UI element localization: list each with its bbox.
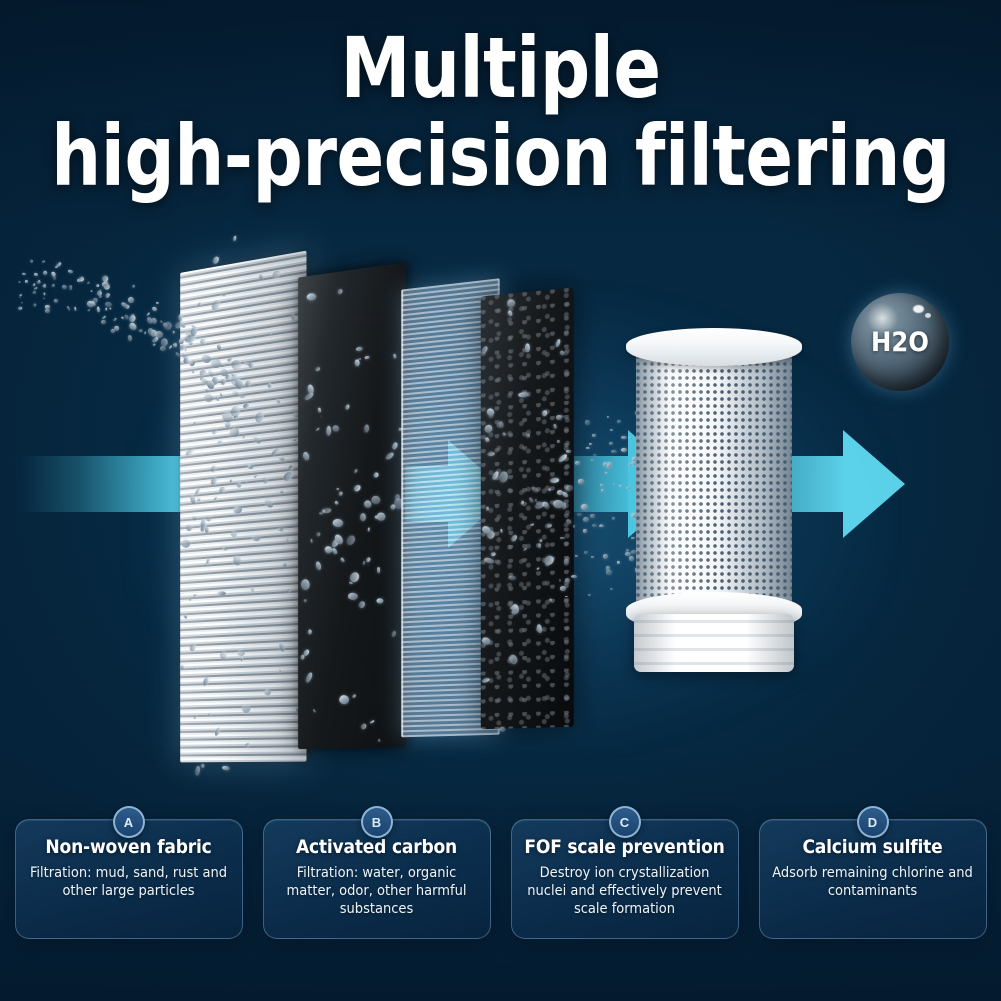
water-droplet — [392, 442, 399, 450]
water-droplet — [219, 392, 222, 397]
feature-card-list: A Non-woven fabric Filtration: mud, sand… — [0, 819, 1001, 945]
water-droplet — [29, 259, 33, 263]
water-droplet — [25, 280, 28, 283]
card-description-d: Adsorb remaining chlorine and contaminan… — [760, 864, 986, 900]
water-droplet — [105, 308, 107, 311]
cartridge-top-cap — [626, 328, 802, 366]
water-droplet — [244, 480, 248, 484]
water-droplet — [185, 448, 194, 457]
water-droplet — [221, 766, 229, 771]
water-droplet — [282, 563, 287, 567]
water-droplet — [90, 290, 93, 292]
water-droplet — [502, 432, 507, 437]
water-droplet — [538, 538, 542, 542]
water-droplet — [37, 281, 41, 284]
water-droplet — [286, 588, 291, 593]
water-droplet — [185, 523, 193, 532]
water-droplet — [209, 476, 218, 486]
card-badge-a: A — [113, 806, 145, 838]
water-droplet — [336, 487, 339, 489]
water-droplet — [91, 301, 96, 307]
water-droplet — [22, 273, 26, 276]
water-droplet — [527, 434, 531, 439]
water-droplet — [263, 498, 274, 509]
water-droplet — [370, 495, 381, 506]
water-droplet — [96, 290, 103, 297]
water-droplet — [353, 484, 362, 493]
arrow-tail — [20, 456, 188, 512]
water-droplet — [559, 350, 565, 356]
water-droplet — [376, 567, 380, 573]
water-droplet — [21, 302, 23, 304]
water-droplet — [68, 269, 73, 273]
card-description-a: Filtration: mud, sand, rust and other la… — [16, 864, 242, 900]
water-droplet — [42, 270, 48, 276]
water-droplet — [18, 281, 21, 283]
water-droplet — [268, 332, 272, 336]
water-droplet — [481, 678, 490, 684]
water-droplet — [302, 451, 310, 462]
water-droplet — [229, 427, 239, 436]
water-droplet — [42, 260, 45, 262]
water-droplet — [484, 423, 495, 434]
water-droplet — [546, 523, 551, 527]
water-droplet — [62, 284, 68, 289]
water-droplet — [499, 471, 509, 482]
water-droplet — [101, 275, 109, 283]
water-droplet — [290, 313, 295, 321]
water-droplet — [87, 308, 91, 312]
water-droplet — [543, 410, 548, 416]
water-droplet — [77, 279, 81, 282]
water-droplet — [485, 407, 495, 418]
water-droplet — [38, 280, 40, 282]
water-droplet — [332, 548, 338, 555]
water-droplet — [69, 285, 72, 290]
water-droplet — [188, 597, 192, 600]
water-droplet — [491, 552, 496, 557]
water-droplet — [333, 500, 338, 505]
feature-card-b[interactable]: B Activated carbon Filtration: water, or… — [263, 819, 491, 939]
water-droplet — [198, 302, 202, 307]
water-droplet — [534, 498, 537, 502]
water-droplet — [520, 500, 525, 505]
water-droplet — [251, 587, 255, 592]
water-droplet — [302, 648, 310, 657]
water-droplet — [34, 287, 38, 291]
water-droplet — [41, 283, 45, 287]
cartridge-base-shading — [634, 614, 794, 672]
water-droplet — [45, 309, 51, 313]
water-droplet — [315, 427, 320, 431]
water-droplet — [19, 296, 21, 298]
water-droplet — [326, 425, 331, 435]
water-droplet — [310, 539, 313, 543]
water-droplet — [292, 439, 297, 441]
water-droplet — [315, 532, 321, 538]
feature-card-a[interactable]: A Non-woven fabric Filtration: mud, sand… — [15, 819, 243, 939]
card-title-d: Calcium sulfite — [760, 836, 986, 858]
water-droplet — [232, 554, 243, 566]
water-droplet — [356, 347, 363, 352]
water-droplet — [254, 473, 259, 478]
water-droplet — [497, 421, 504, 429]
water-droplet — [303, 391, 314, 401]
water-droplet — [194, 487, 201, 495]
water-droplet — [318, 512, 322, 515]
water-droplet — [120, 317, 124, 321]
water-droplet — [223, 546, 228, 550]
water-droplet — [213, 496, 217, 500]
water-droplet — [267, 383, 271, 389]
water-droplet — [210, 465, 218, 473]
water-droplet — [44, 293, 46, 296]
water-droplet — [105, 302, 113, 308]
water-droplet — [19, 294, 23, 298]
filter-cartridge — [624, 328, 804, 676]
water-droplet — [98, 295, 101, 298]
water-droplet — [523, 548, 527, 552]
card-badge-b: B — [361, 806, 393, 838]
water-droplet — [536, 566, 540, 570]
water-droplet — [278, 642, 285, 652]
water-droplet — [104, 292, 110, 298]
water-droplet — [210, 299, 222, 312]
water-droplet — [51, 270, 57, 276]
water-droplet — [190, 360, 196, 366]
water-droplet — [300, 578, 311, 591]
water-droplet — [337, 288, 344, 295]
water-droplet — [347, 593, 358, 600]
droplet-highlight-small-icon — [925, 313, 931, 318]
water-droplet — [303, 599, 307, 603]
water-droplet — [87, 281, 90, 284]
water-droplet — [369, 720, 374, 724]
water-droplet — [318, 407, 322, 412]
water-droplet — [32, 291, 36, 295]
water-droplet — [53, 299, 58, 304]
water-droplet — [286, 537, 290, 542]
activated-carbon-slab — [298, 262, 405, 749]
water-droplet — [548, 488, 552, 492]
h2o-droplet-badge: H2O — [851, 293, 949, 391]
water-droplet — [537, 543, 541, 549]
water-droplet — [190, 494, 197, 504]
water-droplet — [280, 489, 285, 494]
water-droplet — [558, 453, 569, 463]
water-droplet — [202, 677, 209, 687]
water-droplet — [193, 713, 198, 719]
carbon-sponge-sheet — [481, 288, 574, 730]
water-droplet — [120, 302, 128, 309]
water-droplet — [93, 298, 98, 303]
water-droplet — [332, 424, 341, 432]
water-droplet — [276, 398, 281, 404]
card-badge-d: D — [857, 806, 889, 838]
water-droplet — [95, 284, 99, 288]
title-line-1: Multiple — [35, 26, 966, 110]
water-droplet — [220, 651, 227, 660]
water-droplet — [486, 507, 489, 511]
water-droplet — [365, 557, 371, 563]
water-droplet — [208, 712, 211, 716]
water-droplet — [230, 529, 238, 538]
water-droplet — [194, 594, 198, 597]
card-badge-c: C — [609, 806, 641, 838]
water-droplet — [358, 358, 361, 361]
water-droplet — [218, 486, 226, 495]
water-droplet — [340, 557, 345, 563]
water-droplet — [201, 764, 205, 768]
card-description-c: Destroy ion crystallization nuclei and e… — [512, 864, 738, 918]
water-droplet — [192, 515, 198, 521]
water-droplet — [376, 598, 383, 604]
water-droplet — [566, 518, 573, 524]
water-droplet — [385, 451, 395, 461]
feature-card-c[interactable]: C FOF scale prevention Destroy ion cryst… — [511, 819, 739, 939]
water-droplet — [221, 378, 226, 384]
water-droplet — [481, 637, 492, 646]
water-droplet — [252, 436, 262, 445]
water-droplet — [101, 320, 106, 324]
water-droplet — [33, 273, 38, 277]
water-droplet — [345, 404, 350, 410]
water-droplet — [241, 702, 253, 714]
filter-artwork — [0, 250, 1001, 790]
water-droplet — [212, 256, 220, 265]
water-droplet — [306, 293, 317, 301]
water-droplet — [562, 491, 569, 498]
h2o-label: H2O — [871, 327, 929, 358]
water-droplet — [510, 534, 518, 542]
water-droplet — [248, 464, 254, 470]
water-droplet — [74, 307, 77, 312]
water-droplet — [38, 280, 40, 282]
water-droplet — [112, 317, 116, 321]
water-droplet — [251, 534, 261, 542]
arrow-head — [843, 430, 905, 538]
water-droplet — [553, 423, 557, 428]
water-droplet — [530, 523, 534, 526]
water-droplet — [123, 314, 129, 320]
water-droplet — [78, 277, 83, 283]
card-title-a: Non-woven fabric — [16, 836, 242, 858]
water-droplet — [241, 657, 243, 661]
water-droplet — [217, 592, 225, 596]
water-droplet — [360, 722, 368, 730]
droplet-highlight-icon — [913, 305, 924, 313]
water-droplet — [352, 693, 357, 698]
water-droplet — [518, 393, 529, 399]
water-droplet — [484, 437, 490, 444]
water-droplet — [481, 346, 489, 355]
water-droplet — [104, 284, 110, 290]
water-droplet — [507, 653, 519, 666]
water-droplet — [51, 283, 55, 287]
water-droplet — [233, 236, 236, 241]
water-droplet — [259, 273, 264, 280]
water-droplet — [281, 470, 294, 483]
water-droplet — [332, 518, 344, 528]
water-droplet — [224, 420, 232, 429]
water-droplet — [194, 668, 197, 671]
water-droplet — [360, 513, 367, 522]
water-droplet — [109, 308, 112, 310]
water-droplet — [236, 480, 243, 488]
water-droplet — [217, 440, 222, 444]
card-description-b: Filtration: water, organic matter, odor,… — [264, 864, 490, 918]
water-droplet — [33, 283, 36, 286]
water-droplet — [180, 539, 191, 549]
water-droplet — [67, 305, 71, 310]
water-droplet — [488, 452, 496, 457]
water-droplet — [206, 514, 212, 521]
water-droplet — [483, 557, 494, 564]
water-droplet — [57, 263, 60, 266]
water-droplet — [86, 299, 94, 307]
water-droplet — [206, 527, 210, 533]
water-droplet — [499, 727, 505, 732]
water-droplet — [17, 306, 22, 310]
water-droplet — [33, 303, 37, 307]
water-droplet — [278, 456, 285, 462]
water-droplet — [393, 353, 397, 359]
water-droplet — [263, 688, 271, 695]
water-droplet — [367, 527, 369, 531]
water-droplet — [97, 306, 101, 313]
water-droplet — [245, 742, 251, 748]
water-droplet — [555, 339, 562, 348]
water-droplet — [99, 288, 102, 291]
water-droplet — [189, 643, 197, 652]
water-droplet — [79, 277, 84, 281]
water-droplet — [54, 300, 56, 301]
water-droplet — [45, 305, 50, 309]
water-droplet — [308, 630, 312, 635]
water-droplet — [101, 281, 108, 287]
water-droplet — [42, 285, 46, 289]
water-droplet — [500, 529, 503, 533]
water-droplet — [237, 649, 245, 656]
water-droplet — [304, 671, 313, 683]
water-droplet — [230, 480, 234, 484]
water-droplet — [528, 497, 534, 504]
water-droplet — [507, 310, 513, 317]
water-droplet — [542, 554, 556, 568]
water-droplet — [312, 709, 316, 714]
water-droplet — [531, 486, 539, 493]
card-title-b: Activated carbon — [264, 836, 490, 858]
water-droplet — [362, 560, 365, 565]
water-droplet — [52, 275, 56, 280]
water-droplet — [549, 478, 558, 483]
water-droplet — [56, 262, 61, 267]
title-line-2: high-precision filtering — [35, 110, 966, 202]
water-droplet — [32, 291, 34, 293]
water-droplet — [193, 421, 197, 425]
water-droplet — [345, 534, 357, 546]
water-droplet — [180, 664, 184, 670]
water-droplet — [43, 297, 45, 300]
water-droplet — [314, 366, 320, 372]
water-droplet — [103, 279, 109, 286]
water-droplet — [183, 614, 187, 619]
water-droplet — [194, 765, 200, 775]
water-droplet — [505, 298, 516, 309]
water-droplet — [508, 576, 516, 581]
water-droplet — [549, 598, 553, 602]
water-droplet — [197, 498, 201, 501]
water-droplet — [54, 266, 57, 269]
non-woven-pleated-sheet — [180, 251, 306, 763]
water-droplet — [375, 511, 387, 522]
water-droplet — [364, 356, 369, 359]
water-droplet — [219, 291, 226, 298]
water-droplet — [358, 601, 366, 609]
water-droplet — [377, 739, 380, 743]
water-droplet — [242, 435, 246, 439]
water-droplet — [315, 560, 322, 570]
water-droplet — [132, 284, 136, 288]
water-droplet — [525, 343, 531, 352]
feature-card-d[interactable]: D Calcium sulfite Adsorb remaining chlor… — [759, 819, 987, 939]
water-droplet — [233, 506, 242, 513]
water-droplet — [110, 329, 115, 334]
water-droplet — [102, 315, 106, 319]
water-droplet — [373, 472, 380, 479]
card-title-c: FOF scale prevention — [512, 836, 738, 858]
water-droplet — [354, 468, 358, 473]
infographic-canvas: H2O Multiple high-precision filtering A … — [0, 0, 1001, 1001]
water-droplet — [337, 491, 342, 497]
water-droplet — [214, 727, 221, 736]
water-droplet — [391, 630, 397, 638]
water-droplet — [89, 300, 95, 304]
water-droplet — [536, 624, 543, 634]
water-droplet — [273, 270, 281, 279]
water-droplet — [114, 325, 121, 332]
water-droplet — [276, 528, 282, 531]
water-droplet — [262, 476, 268, 484]
water-droplet — [279, 669, 282, 673]
water-droplet — [211, 428, 219, 436]
page-title: Multiple high-precision filtering — [0, 26, 1001, 202]
water-droplet — [364, 425, 369, 434]
water-droplet — [338, 695, 350, 705]
